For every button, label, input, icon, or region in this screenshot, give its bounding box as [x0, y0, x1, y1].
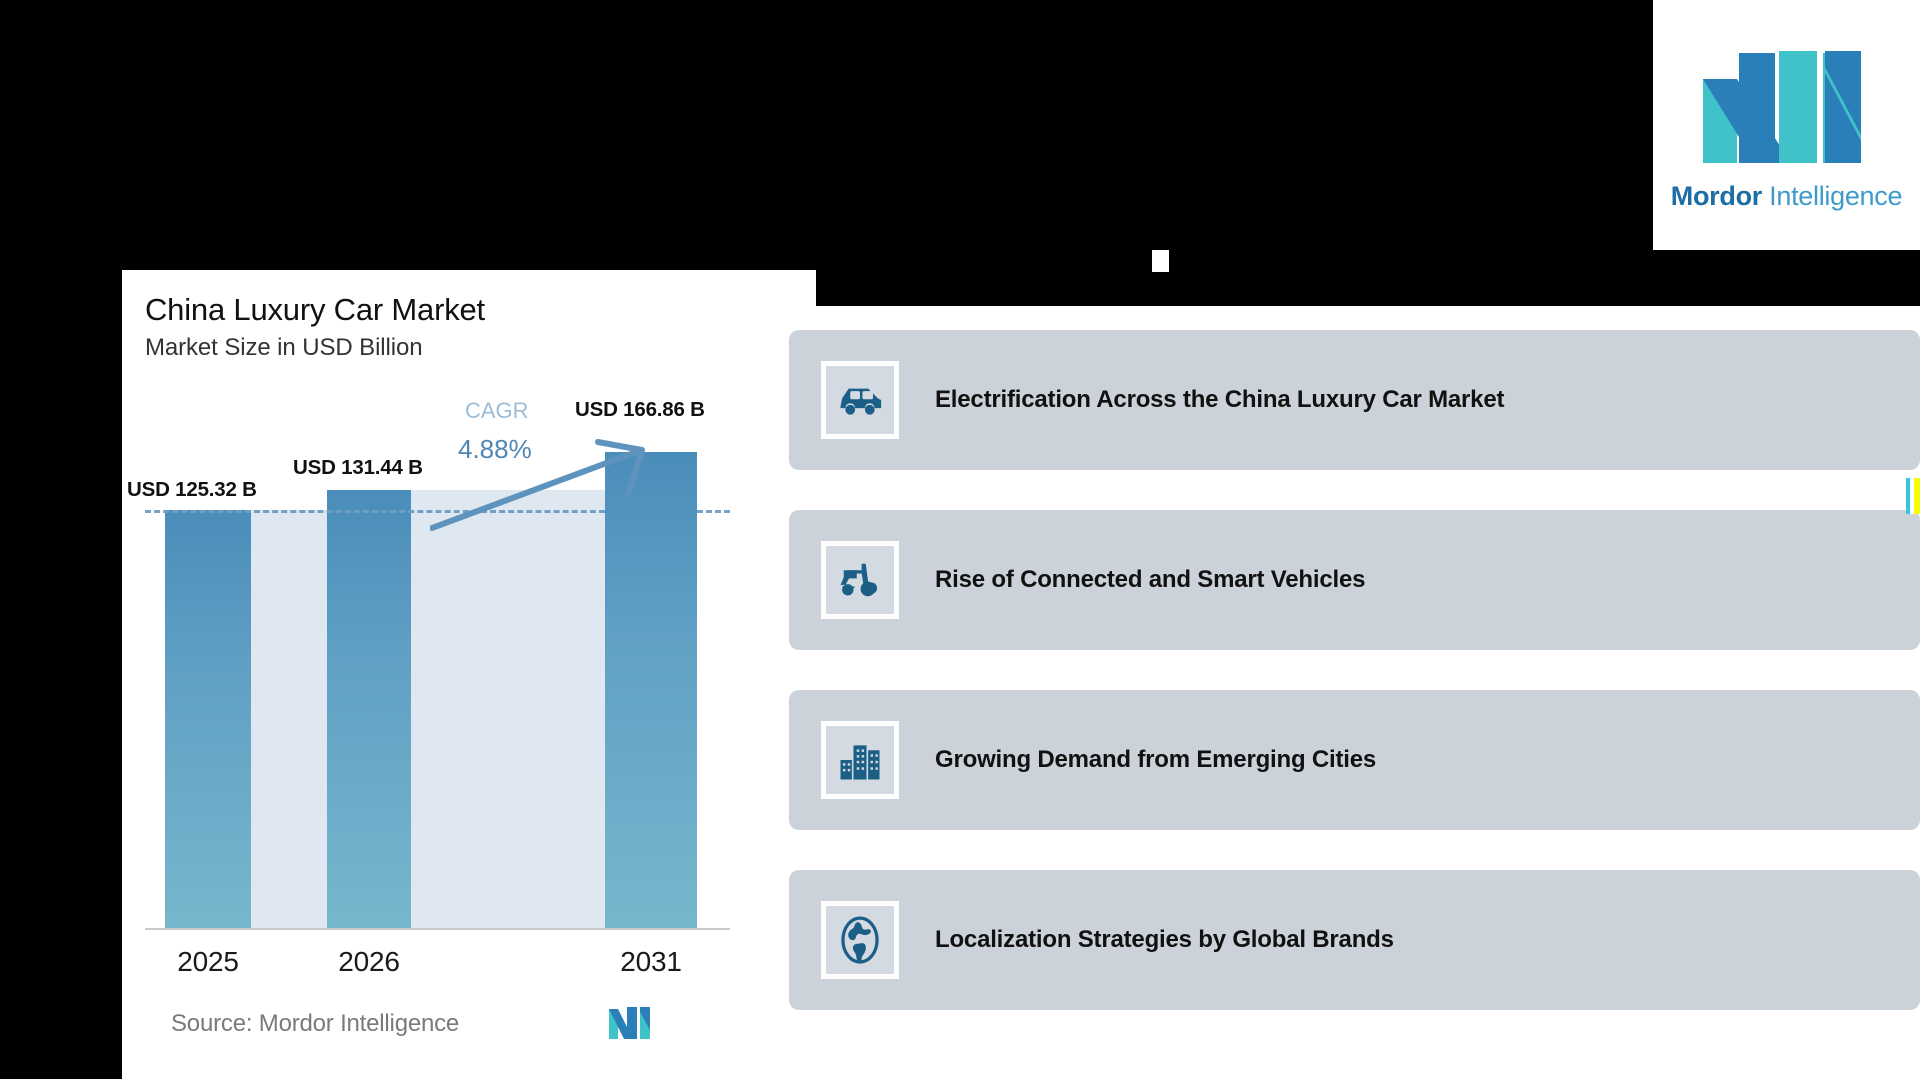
chart-subtitle: Market Size in USD Billion — [145, 334, 423, 362]
bar-label-2031: USD 166.86 B — [575, 398, 705, 422]
x-label-2025: 2025 — [158, 946, 258, 978]
x-axis-line — [145, 928, 730, 930]
globe-icon — [821, 901, 899, 979]
bar-label-2025: USD 125.32 B — [127, 478, 257, 502]
card-label: Electrification Across the China Luxury … — [935, 386, 1504, 414]
bar-2026-fill — [327, 490, 411, 930]
card-emerging-cities[interactable]: Growing Demand from Emerging Cities — [789, 690, 1920, 830]
bar-label-2026: USD 131.44 B — [293, 456, 423, 480]
highlight-cards: Electrification Across the China Luxury … — [789, 330, 1920, 1075]
reference-dash-right — [697, 510, 730, 513]
x-label-2026: 2026 — [319, 946, 419, 978]
source-row: Source: Mordor Intelligence — [145, 1010, 730, 1050]
card-electrification[interactable]: Electrification Across the China Luxury … — [789, 330, 1920, 470]
cagr-arrow-icon — [430, 438, 670, 533]
chart-block: China Luxury Car Market Market Size in U… — [122, 270, 852, 1079]
bar-2025-fill — [165, 510, 251, 930]
plot-band-4 — [411, 490, 605, 930]
plot-band-2 — [251, 510, 327, 930]
mordor-logo-mark — [1699, 45, 1875, 169]
header-bar-notch — [1152, 250, 1169, 272]
plot-area: USD 125.32 B USD 131.44 B USD 166.86 B C… — [145, 410, 730, 930]
scooter-icon — [821, 541, 899, 619]
brand-wordmark: Mordor Intelligence — [1671, 181, 1902, 212]
x-axis-labels: 2025 2026 2031 — [145, 946, 730, 986]
brand-word-light: Intelligence — [1762, 181, 1902, 211]
cagr-label: CAGR — [465, 398, 529, 424]
chart-title: China Luxury Car Market — [145, 292, 485, 328]
buildings-icon — [821, 721, 899, 799]
source-logo-mark-icon — [607, 1006, 653, 1040]
x-label-2031: 2031 — [601, 946, 701, 978]
bar-2026[interactable] — [327, 490, 411, 930]
card-label: Rise of Connected and Smart Vehicles — [935, 566, 1365, 594]
card-connected-vehicles[interactable]: Rise of Connected and Smart Vehicles — [789, 510, 1920, 650]
bar-2025[interactable] — [165, 510, 251, 930]
header-bar — [816, 250, 1920, 306]
screenshot-root: Mordor Intelligence China Luxury Car Mar… — [0, 0, 1920, 1079]
car-icon — [821, 361, 899, 439]
edge-color-strip — [1906, 478, 1920, 514]
card-label: Growing Demand from Emerging Cities — [935, 746, 1376, 774]
card-localization[interactable]: Localization Strategies by Global Brands — [789, 870, 1920, 1010]
card-label: Localization Strategies by Global Brands — [935, 926, 1394, 954]
brand-word-bold: Mordor — [1671, 181, 1762, 211]
edge-strip-yellow — [1914, 478, 1920, 514]
brand-logo-plate: Mordor Intelligence — [1653, 0, 1920, 256]
source-text: Source: Mordor Intelligence — [171, 1010, 459, 1038]
content-canvas: China Luxury Car Market Market Size in U… — [122, 270, 1920, 1079]
